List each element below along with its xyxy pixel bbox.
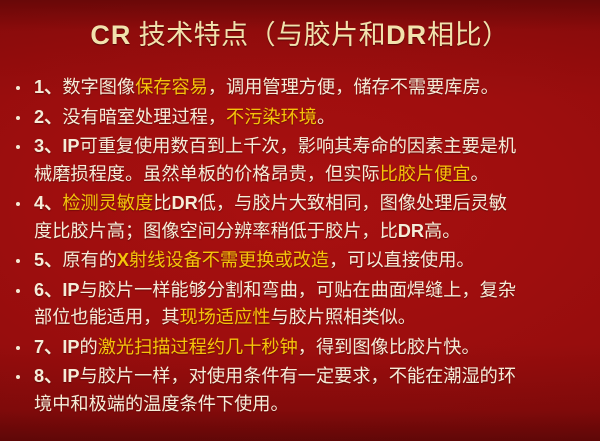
body-text: IP [62, 366, 79, 386]
highlighted-text: 比胶片便宜 [380, 164, 471, 184]
list-item: 2、没有暗室处理过程，不污染环境。 [12, 104, 592, 132]
list-item: 7、IP的激光扫描过程约几十秒钟，得到图像比胶片快。 [12, 334, 592, 362]
page-title-latin2: DR [386, 20, 427, 50]
bullet-dot-icon [16, 116, 20, 120]
bullet-dot-icon [16, 259, 20, 263]
body-text: 比 [153, 193, 171, 213]
body-text: 。 [317, 107, 335, 127]
list-item: 3、IP可重复使用数百到上千次，影响其寿命的因素主要是机械磨损程度。虽然单板的价… [12, 133, 592, 188]
list-item-line: 5、原有的X射线设备不需更换或改造，可以直接使用。 [34, 247, 592, 275]
bullet-dot-icon [16, 289, 20, 293]
page-title: CR 技术特点（与胶片和DR相比） [90, 18, 509, 52]
body-text: 度比胶片高；图像空间分辨率稍低于胶片，比 [34, 221, 398, 241]
list-item-number: 8、 [34, 366, 62, 386]
highlighted-text: 保存容易 [135, 77, 208, 97]
body-text: 没有暗室处理过程， [62, 107, 226, 127]
list-item-number: 3、 [34, 136, 62, 156]
highlighted-text: 检测灵敏度 [62, 193, 153, 213]
page-title-latin: CR [90, 20, 131, 50]
body-text: 境中和极端的温度条件下使用。 [34, 394, 289, 414]
list-item: 6、IP与胶片一样能够分割和弯曲，可贴在曲面焊缝上，复杂部位也能适用，其现场适应… [12, 277, 592, 332]
body-text: DR [398, 221, 424, 241]
list-item-line: 部位也能适用，其现场适应性与胶片照相类似。 [34, 304, 592, 332]
body-text: 低，与胶片大致相同，图像处理后灵敏 [198, 193, 507, 213]
body-text: ，可以直接使用。 [329, 250, 475, 270]
body-text: 部位也能适用，其 [34, 307, 180, 327]
body-text: 的 [80, 337, 98, 357]
list-item-number: 4、 [34, 193, 62, 213]
slide-title-area: CR 技术特点（与胶片和DR相比） [0, 18, 600, 52]
body-text: 高。 [424, 221, 460, 241]
list-item-line: 3、IP可重复使用数百到上千次，影响其寿命的因素主要是机 [34, 133, 592, 161]
body-text: DR [171, 193, 197, 213]
list-item-number: 1、 [34, 77, 62, 97]
bullet-dot-icon [16, 86, 20, 90]
bullet-dot-icon [16, 145, 20, 149]
list-item-line: 境中和极端的温度条件下使用。 [34, 391, 592, 419]
list-item-line: 8、IP与胶片一样，对使用条件有一定要求，不能在潮湿的环 [34, 363, 592, 391]
list-item-line: 4、检测灵敏度比DR低，与胶片大致相同，图像处理后灵敏 [34, 190, 592, 218]
highlighted-text: X [117, 250, 129, 270]
list-item: 8、IP与胶片一样，对使用条件有一定要求，不能在潮湿的环境中和极端的温度条件下使… [12, 363, 592, 418]
list-item-number: 2、 [34, 107, 62, 127]
page-title-cn: 技术特点（与胶片和 [139, 20, 387, 50]
list-item-line: 7、IP的激光扫描过程约几十秒钟，得到图像比胶片快。 [34, 334, 592, 362]
body-text: 与胶片照相类似。 [270, 307, 416, 327]
page-title-cn2: 相比） [427, 20, 510, 50]
list-item: 4、检测灵敏度比DR低，与胶片大致相同，图像处理后灵敏度比胶片高；图像空间分辨率… [12, 190, 592, 245]
body-text: 与胶片一样能够分割和弯曲，可贴在曲面焊缝上，复杂 [80, 280, 517, 300]
highlighted-text: 不污染环境 [226, 107, 317, 127]
highlighted-text: 射线设备不需更换或改造 [129, 250, 329, 270]
list-item-line: 1、数字图像保存容易，调用管理方便，储存不需要库房。 [34, 74, 592, 102]
list-item: 1、数字图像保存容易，调用管理方便，储存不需要库房。 [12, 74, 592, 102]
list-item-line: 6、IP与胶片一样能够分割和弯曲，可贴在曲面焊缝上，复杂 [34, 277, 592, 305]
bullet-dot-icon [16, 375, 20, 379]
body-text: 械磨损程度。虽然单板的价格昂贵，但实际 [34, 164, 380, 184]
list-item: 5、原有的X射线设备不需更换或改造，可以直接使用。 [12, 247, 592, 275]
highlighted-text: 激光扫描过程约几十秒钟 [98, 337, 298, 357]
body-text: 原有的 [62, 250, 117, 270]
list-item-number: 7、 [34, 337, 62, 357]
highlighted-text: 现场适应性 [180, 307, 271, 327]
bullet-dot-icon [16, 346, 20, 350]
body-text: IP [62, 280, 79, 300]
body-text: 与胶片一样，对使用条件有一定要求，不能在潮湿的环 [80, 366, 517, 386]
body-text: ，得到图像比胶片快。 [298, 337, 480, 357]
body-text: 数字图像 [62, 77, 135, 97]
body-text: IP [62, 136, 79, 156]
list-item-line: 度比胶片高；图像空间分辨率稍低于胶片，比DR高。 [34, 218, 592, 246]
body-text: 。 [471, 164, 489, 184]
list-item-number: 5、 [34, 250, 62, 270]
body-text: IP [62, 337, 79, 357]
body-text: ，调用管理方便，储存不需要库房。 [208, 77, 499, 97]
list-item-line: 2、没有暗室处理过程，不污染环境。 [34, 104, 592, 132]
list-item-number: 6、 [34, 280, 62, 300]
list-item-line: 械磨损程度。虽然单板的价格昂贵，但实际比胶片便宜。 [34, 161, 592, 189]
bullet-dot-icon [16, 202, 20, 206]
bullet-list: 1、数字图像保存容易，调用管理方便，储存不需要库房。2、没有暗室处理过程，不污染… [12, 74, 592, 420]
slide-canvas: CR 技术特点（与胶片和DR相比） 1、数字图像保存容易，调用管理方便，储存不需… [0, 0, 600, 441]
body-text: 可重复使用数百到上千次，影响其寿命的因素主要是机 [80, 136, 517, 156]
page-title-gap [131, 20, 138, 50]
